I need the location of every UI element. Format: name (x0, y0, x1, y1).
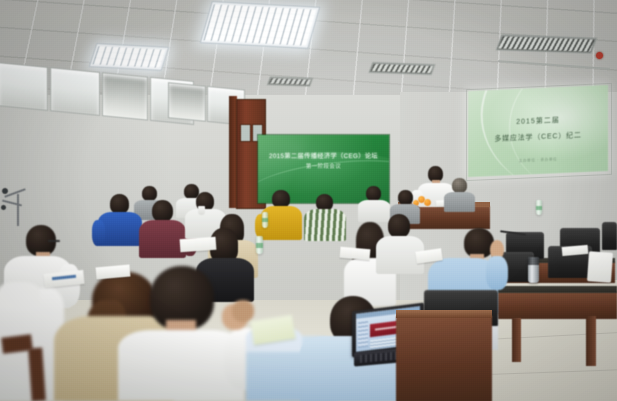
head (142, 186, 157, 201)
fluorescent-troffer-light-2 (89, 43, 170, 71)
clasped-hands-2 (232, 300, 254, 322)
projection-screen-frame (466, 83, 612, 181)
page-sidebar (358, 320, 368, 347)
arm (486, 256, 508, 290)
orange-fruit-2 (424, 199, 431, 206)
stainless-thermos (528, 257, 539, 283)
ceiling-air-vent-1 (496, 34, 598, 53)
door-glass-pane-left (240, 124, 251, 142)
head (452, 178, 467, 193)
head (366, 186, 381, 201)
shoulder (0, 282, 40, 306)
mic-rod (17, 194, 19, 226)
microphone-stand (2, 186, 36, 226)
torso (304, 209, 346, 241)
head (110, 194, 129, 214)
conference-room-photo: 2015第二届传播经济学（CEG）论坛 第一阶段会议 2015第二届 多媒应法学… (0, 0, 617, 401)
desk-leg-1 (512, 318, 521, 362)
chair-empty-3[interactable] (602, 222, 617, 250)
desk-right-mid-top (486, 286, 617, 293)
torso (444, 192, 475, 212)
desk-right-mid (486, 292, 617, 319)
ceiling-air-vent-2 (368, 62, 435, 75)
cloth-or-paper-right (587, 251, 613, 283)
torso (358, 200, 390, 222)
desk-leg-2 (586, 316, 596, 366)
water-bottle-mid-2 (262, 212, 268, 228)
microphone-icon-1 (2, 188, 8, 194)
ceiling-air-vent-3 (267, 76, 314, 87)
sprinkler-head-icon (596, 52, 603, 59)
head (398, 190, 413, 205)
water-bottle-mid (256, 236, 263, 254)
desk-front-right-edge (396, 310, 492, 318)
arm (92, 220, 105, 246)
microphone-icon-2 (1, 205, 6, 210)
fluorescent-troffer-light-1 (200, 1, 320, 49)
head (388, 214, 410, 238)
water-bottle-right (536, 200, 542, 215)
eyeglasses-icon (48, 240, 60, 242)
paper-cup (198, 206, 205, 215)
desk-front-right (396, 316, 492, 401)
paper-row2 (180, 237, 217, 252)
head (152, 200, 173, 222)
